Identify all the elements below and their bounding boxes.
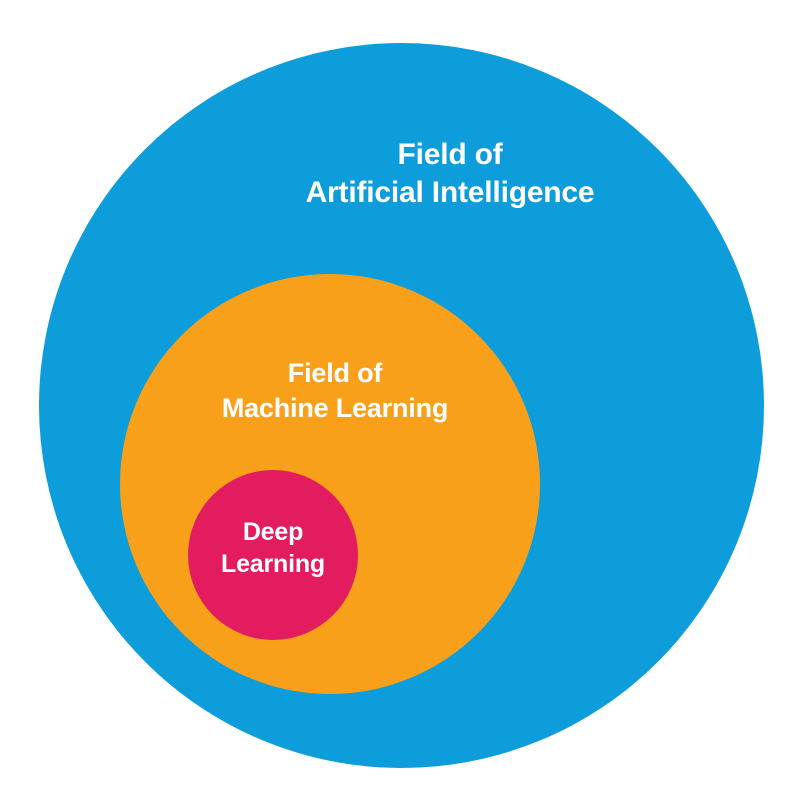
circle-machine-learning <box>120 274 540 694</box>
label-artificial-intelligence-line-2: Artificial Intelligence <box>150 174 750 212</box>
label-artificial-intelligence-line-1: Field of <box>150 136 750 174</box>
label-machine-learning-line-1: Field of <box>35 356 635 391</box>
label-artificial-intelligence: Field of Artificial Intelligence <box>150 136 750 213</box>
label-deep-learning: Deep Learning <box>73 516 473 580</box>
diagram-canvas: Field of Artificial Intelligence Field o… <box>0 0 800 811</box>
label-deep-learning-line-2: Learning <box>73 548 473 580</box>
label-deep-learning-line-1: Deep <box>73 516 473 548</box>
label-machine-learning: Field of Machine Learning <box>35 356 635 425</box>
label-machine-learning-line-2: Machine Learning <box>35 391 635 426</box>
